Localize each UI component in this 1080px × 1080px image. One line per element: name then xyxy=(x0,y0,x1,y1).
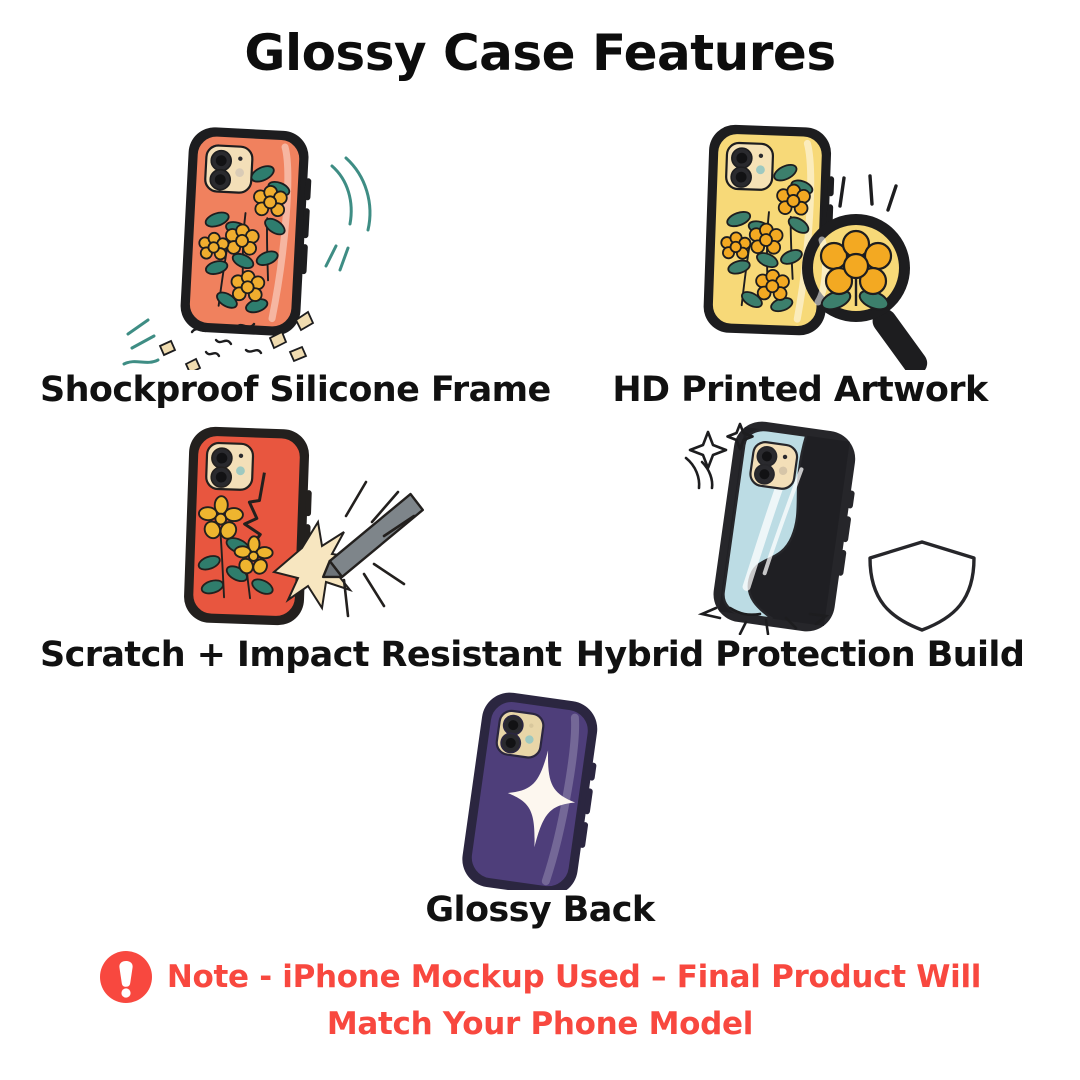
feature-card-glossy-back: Glossy Back xyxy=(300,685,780,945)
note-banner: Note - iPhone Mockup Used – Final Produc… xyxy=(0,950,1080,1042)
shield-icon xyxy=(870,542,974,630)
phone-case-blue-black-shield-icon xyxy=(560,410,1040,635)
feature-label-hybrid-protection-build: Hybrid Protection Build xyxy=(560,635,1040,675)
note-text-line1: Note - iPhone Mockup Used – Final Produc… xyxy=(167,958,981,996)
exclamation-circle-icon xyxy=(99,950,153,1004)
feature-label-shockproof-silicone-frame: Shockproof Silicone Frame xyxy=(40,370,520,410)
phone-case-coral-floral-impact-icon xyxy=(40,120,520,370)
feature-card-scratch-impact-resistant: Scratch + Impact Resistant xyxy=(40,420,520,685)
motion-lines xyxy=(326,158,370,270)
page-title: Glossy Case Features xyxy=(0,24,1080,82)
phone-case-purple-sparkle-icon xyxy=(300,685,780,890)
feature-card-shockproof-silicone-frame: Shockproof Silicone Frame xyxy=(40,120,520,420)
magnifier-icon xyxy=(802,214,932,370)
note-text-line2: Match Your Phone Model xyxy=(327,1006,753,1042)
feature-label-scratch-impact-resistant: Scratch + Impact Resistant xyxy=(40,635,520,675)
feature-label-hd-printed-artwork: HD Printed Artwork xyxy=(560,370,1040,410)
feature-card-hybrid-protection-build: Hybrid Protection Build xyxy=(560,410,1040,685)
blade-icon xyxy=(310,493,430,585)
phone-case-red-scratch-blade-icon xyxy=(40,420,520,635)
shine-lines xyxy=(840,176,896,210)
feature-label-glossy-back: Glossy Back xyxy=(300,890,780,930)
feature-card-hd-printed-artwork: HD Printed Artwork xyxy=(560,120,1040,420)
feature-infographic: Glossy Case Features xyxy=(0,0,1080,1080)
phone-case-yellow-floral-magnifier-icon xyxy=(560,120,1040,370)
